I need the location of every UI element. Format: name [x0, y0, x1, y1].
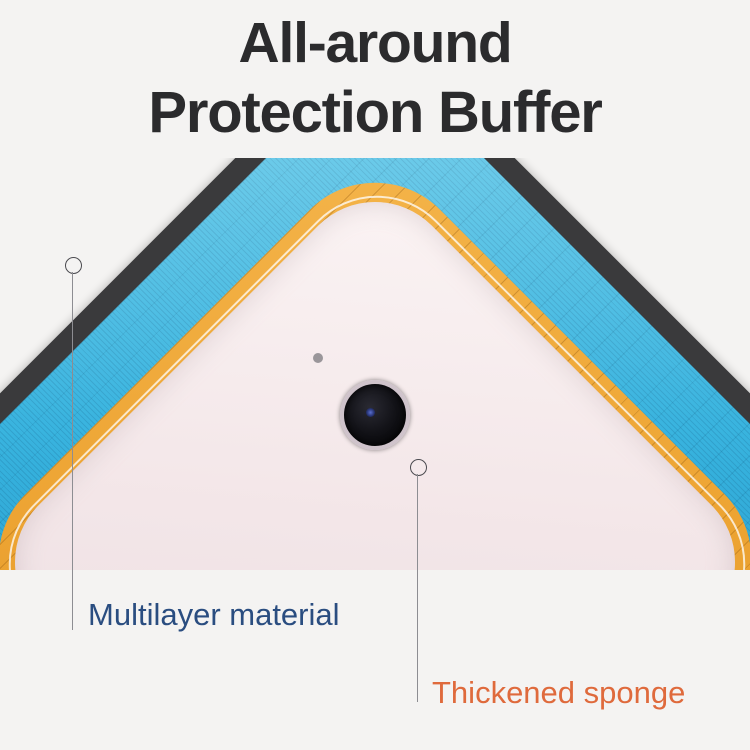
product-feature-poster: All-around Protection Buffer Multilayer …	[0, 0, 750, 750]
camera-lens-glint	[366, 408, 375, 417]
page-title: All-around Protection Buffer	[0, 8, 750, 148]
multilayer-leader-line	[72, 272, 73, 630]
product-photo	[0, 158, 750, 570]
multilayer-marker	[65, 257, 82, 274]
headline-line-2: Protection Buffer	[0, 78, 750, 148]
microphone-dot	[313, 353, 323, 363]
callout-label-sponge: Thickened sponge	[432, 676, 685, 710]
sponge-leader-line	[417, 474, 418, 702]
callout-label-multilayer: Multilayer material	[88, 598, 340, 632]
headline-line-1: All-around	[0, 8, 750, 78]
rear-camera-lens	[340, 380, 410, 450]
sponge-marker	[410, 459, 427, 476]
